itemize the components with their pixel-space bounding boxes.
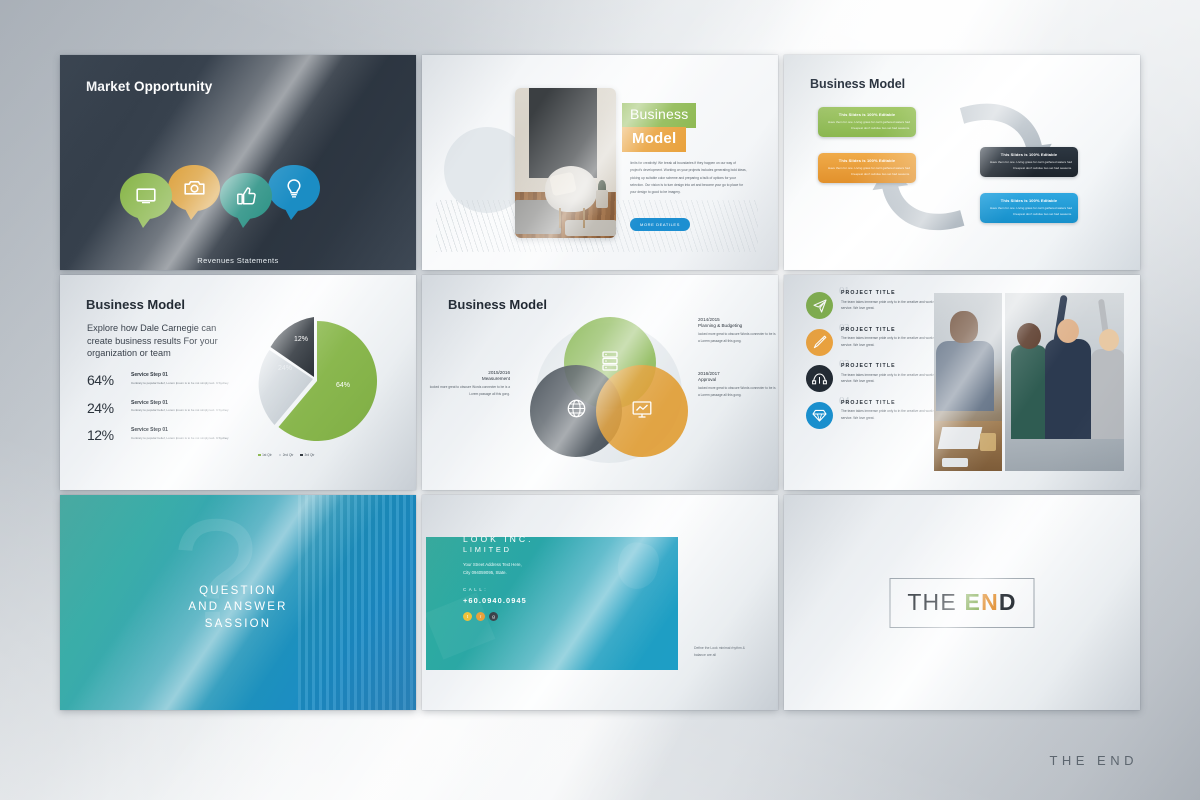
address-line2: City 094059095, State.: [463, 569, 522, 577]
slide-question-answer[interactable]: ? QUESTION AND ANSWER SASSION: [60, 495, 416, 710]
slide-title: Market Opportunity: [86, 79, 212, 94]
slide-body: Have them for one. Living grass to for c…: [100, 269, 376, 270]
venn-body: looked more great to obscure Words conne…: [430, 385, 510, 396]
stat-heading: Service Step 01: [131, 427, 229, 433]
stat-body: Contrary to popular belief, Lorem Ipsum …: [131, 380, 229, 386]
cycle-box-heading: This Slides is 100% Editable: [986, 152, 1072, 157]
stat-list: 64% Service Step 01 Contrary to popular …: [87, 372, 237, 455]
cycle-box[interactable]: This Slides is 100% Editable Have them f…: [980, 193, 1078, 223]
legend-item: 1st Qtr: [258, 453, 272, 457]
title-tag-secondary: Model: [622, 127, 686, 152]
venn-body: looked more great to obscure Words conne…: [698, 332, 776, 343]
pie-label-64: 64%: [336, 382, 350, 389]
company-name: LOOK INC. LIMITED: [463, 533, 533, 556]
the-end-letter-n: N: [981, 589, 999, 615]
thumbs-up-icon: [237, 187, 256, 205]
interior-photo: [515, 88, 616, 238]
company-name-line1: LOOK INC.: [463, 533, 533, 545]
stat-heading: Service Step 01: [131, 400, 229, 406]
qa-heading: QUESTION AND ANSWER SASSION: [60, 583, 416, 632]
venn-diagram: [530, 317, 690, 467]
pencil-icon: [806, 329, 833, 356]
presentation-icon: [632, 400, 652, 423]
twitter-icon[interactable]: t: [463, 612, 472, 621]
stat-row: 64% Service Step 01 Contrary to popular …: [87, 372, 237, 388]
slide-title: Business Model: [86, 297, 185, 312]
venn-circle-approval: [596, 365, 688, 457]
pie-legend: 1st Qtr 2nd Qtr 3rd Qtr: [258, 453, 314, 457]
slide-business-model-venn[interactable]: Business Model 2015/2016 Measurement: [422, 275, 778, 490]
venn-label-approval: 2016/2017 Approval looked more great to …: [698, 371, 776, 398]
bubble-monitor: [120, 173, 172, 219]
stat-percent: 64%: [87, 372, 131, 388]
pie-chart: 64% 24% 12%: [250, 315, 380, 445]
pie-label-12: 12%: [294, 336, 308, 343]
slide-subtitle: Revenues Statements: [60, 256, 416, 265]
diamond-icon: [806, 402, 833, 429]
address-line1: Your Street Address Text Here,: [463, 561, 522, 569]
stat-heading: Service Step 01: [131, 372, 229, 378]
slide-grid: Market Opportunity: [60, 55, 1142, 707]
venn-body: looked more great to obscure Words conne…: [698, 386, 776, 397]
venn-name: Measurement: [428, 376, 510, 382]
the-end-letter-d: D: [999, 589, 1017, 615]
globe-icon: [567, 399, 586, 423]
qa-line: SASSION: [60, 616, 416, 632]
stat-row: 12% Service Step 01 Contrary to popular …: [87, 427, 237, 443]
pen-tool-icon: [806, 365, 833, 392]
the-end-letter-e: E: [965, 589, 982, 615]
photo-group: [934, 293, 1124, 471]
slide-project-titles[interactable]: 01 PROJECT TITLE The team takes immense …: [784, 275, 1140, 490]
venn-name: Approval: [698, 377, 776, 383]
cycle-box[interactable]: This Slides is 100% Editable Have them f…: [818, 107, 916, 137]
legend-item: 2nd Qtr: [279, 453, 294, 457]
company-address: Your Street Address Text Here, City 0940…: [463, 561, 522, 578]
cycle-box-heading: This Slides is 100% Editable: [824, 112, 910, 117]
bubble-thumbs-up: [220, 173, 272, 219]
bubble-icon-group: [120, 165, 360, 235]
slide-business-model-photo[interactable]: Business Model limits for creativity! We…: [422, 55, 778, 270]
stat-percent: 24%: [87, 400, 131, 416]
venn-label-measurement: 2015/2016 Measurement looked more great …: [428, 370, 510, 397]
title-tag-secondary-label: Model: [632, 130, 676, 147]
body-line: Have them for one. Living grass to for c…: [100, 269, 376, 270]
contact-note: Define the Look minimal rhythm & balance…: [694, 645, 754, 659]
slide-business-model-pie[interactable]: Business Model Explore how Dale Carnegie…: [60, 275, 416, 490]
venn-label-planning: 2014/2015 Planning & Budgeting looked mo…: [698, 317, 776, 344]
qa-line: AND ANSWER: [60, 599, 416, 615]
cycle-box-heading: This Slides is 100% Editable: [986, 198, 1072, 203]
stat-percent: 12%: [87, 427, 131, 443]
pie-label-24: 24%: [278, 365, 292, 372]
the-end-word-the: THE: [907, 589, 957, 615]
title-tag-primary-label: Business: [630, 106, 688, 122]
slide-contact[interactable]: LOOK INC. LIMITED Your Street Address Te…: [422, 495, 778, 710]
phone-number[interactable]: +60.0940.0945: [463, 596, 527, 605]
cycle-box-heading: This Slides is 100% Editable: [824, 158, 910, 163]
cycle-box-body: Have them for one. Living grass for can'…: [986, 159, 1072, 171]
slide-title: Business Model: [448, 297, 547, 312]
title-tag-primary: Business: [622, 103, 696, 128]
qa-line: QUESTION: [60, 583, 416, 599]
paper-plane-icon: [806, 292, 833, 319]
cycle-box[interactable]: This Slides is 100% Editable Have them f…: [980, 147, 1078, 177]
bubble-camera: [168, 165, 220, 211]
google-plus-icon[interactable]: g: [489, 612, 498, 621]
legend-item: 3rd Qtr: [300, 453, 314, 457]
camera-icon: [184, 180, 205, 196]
cycle-box-body: Have them for one. Living grass for can'…: [824, 165, 910, 177]
stat-body: Contrary to popular belief, Lorem Ipsum …: [131, 407, 229, 413]
monitor-icon: [136, 188, 156, 204]
photo-man-at-desk: [934, 293, 1002, 471]
slide-market-opportunity[interactable]: Market Opportunity: [60, 55, 416, 270]
lightbulb-icon: [286, 179, 302, 198]
company-name-line2: LIMITED: [463, 545, 533, 556]
slide-business-model-cycle[interactable]: Business Model This Slides is 100% Edita…: [784, 55, 1140, 270]
social-links: t r g: [463, 612, 498, 621]
slide-lead-text: Explore how Dale Carnegie can create bus…: [87, 322, 237, 360]
footer-the-end-label: THE END: [1049, 753, 1138, 768]
the-end-text: THE END: [907, 589, 1016, 616]
more-details-button[interactable]: MORE DEATILES: [630, 218, 690, 231]
rss-icon[interactable]: r: [476, 612, 485, 621]
slide-paragraph: limits for creativity! We break all boun…: [630, 160, 748, 196]
cycle-box-body: Have them for one. Living grass for can'…: [824, 119, 910, 131]
stat-row: 24% Service Step 01 Contrary to popular …: [87, 400, 237, 416]
the-end-box: THE END: [890, 578, 1035, 628]
stat-body: Contrary to popular belief, Lorem Ipsum …: [131, 435, 229, 441]
bubble-lightbulb: [268, 165, 320, 211]
venn-name: Planning & Budgeting: [698, 323, 776, 329]
cycle-box[interactable]: This Slides is 100% Editable Have them f…: [818, 153, 916, 183]
photo-cheering-team: [1005, 293, 1124, 471]
slide-the-end[interactable]: THE END: [784, 495, 1140, 710]
cycle-box-body: Have them for one. Living grass for can'…: [986, 205, 1072, 217]
call-label: CALL:: [463, 587, 488, 592]
